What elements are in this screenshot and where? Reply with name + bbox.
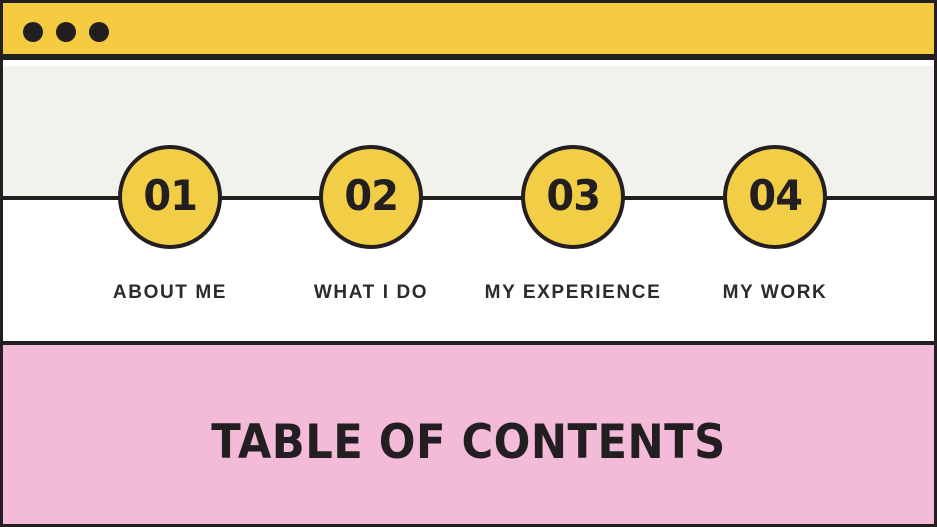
step-4-circle[interactable]: 04 — [723, 145, 827, 249]
step-3-number: 03 — [546, 175, 600, 217]
window-dot-1-icon[interactable] — [23, 22, 43, 42]
step-1-number: 01 — [143, 175, 197, 217]
step-2-number: 02 — [344, 175, 398, 217]
step-1-circle[interactable]: 01 — [118, 145, 222, 249]
step-4-number: 04 — [748, 175, 802, 217]
slide-canvas: 01 ABOUT ME 02 WHAT I DO 03 MY EXPERIENC… — [0, 0, 937, 527]
window-chrome-bar — [3, 3, 934, 60]
slide-title: TABLE OF CONTENTS — [40, 419, 897, 466]
footer-banner: TABLE OF CONTENTS — [3, 341, 934, 524]
timeline-steps: 01 ABOUT ME 02 WHAT I DO 03 MY EXPERIENC… — [3, 66, 934, 341]
window-control-dots — [23, 3, 109, 60]
window-dot-2-icon[interactable] — [56, 22, 76, 42]
step-3-circle[interactable]: 03 — [521, 145, 625, 249]
step-2-circle[interactable]: 02 — [319, 145, 423, 249]
step-4-label: MY WORK — [645, 282, 905, 304]
window-dot-3-icon[interactable] — [89, 22, 109, 42]
